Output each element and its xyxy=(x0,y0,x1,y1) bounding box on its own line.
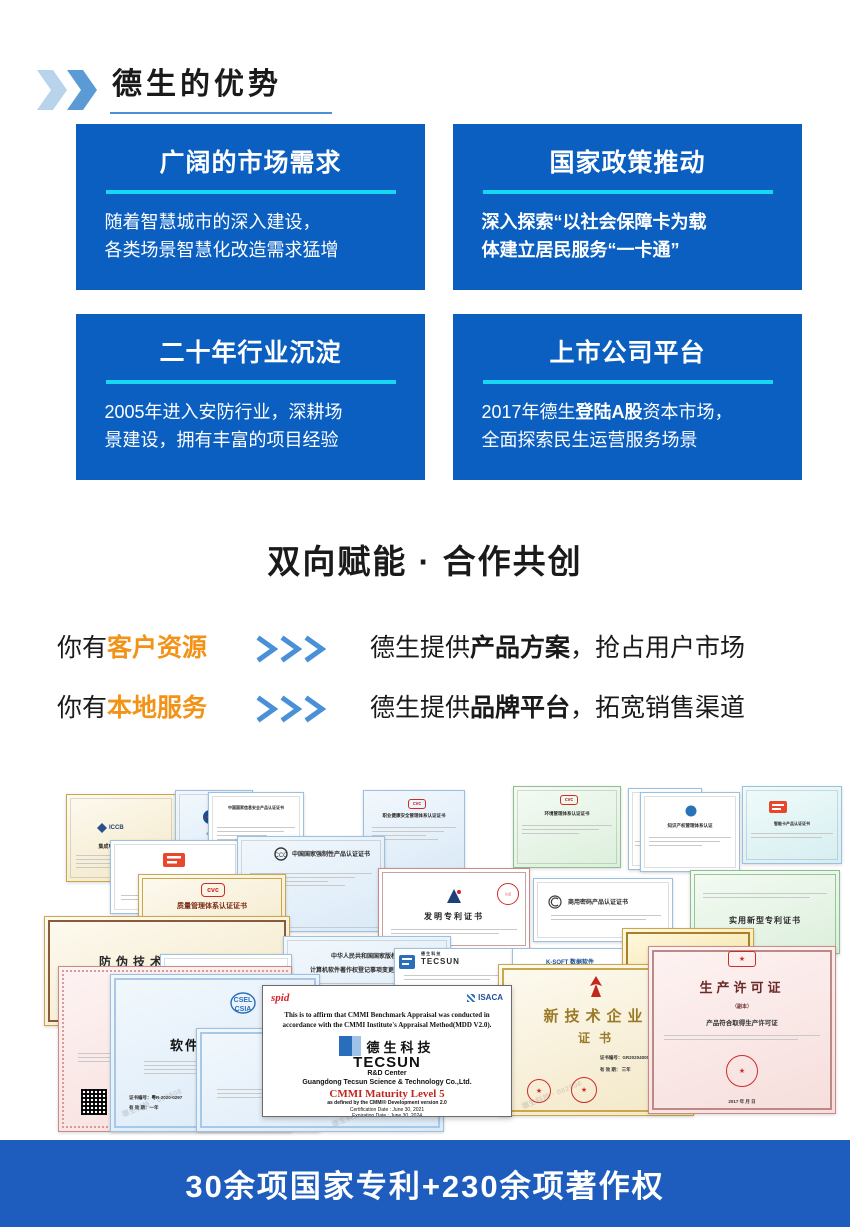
certificate-label: 中国国家信息安全产品认证证书 xyxy=(209,805,303,811)
isaca-label: ISACA xyxy=(478,993,503,1002)
empower-right-prefix: 德生提供 xyxy=(370,634,470,662)
advantage-card: 国家政策推动 深入探索“以社会保障卡为载 体建立居民服务“一卡通” xyxy=(453,124,802,290)
certificate-thumb: cvc 环境管理体系认证证书 xyxy=(513,786,621,868)
certificate-label: 商用密码产品认证证书 xyxy=(568,897,672,906)
empower-right-emphasis: 产品方案 xyxy=(470,634,570,662)
certificate-label: 实用新型专利证书 xyxy=(691,915,839,926)
card-body-text: 资本市场， xyxy=(643,402,733,422)
card-body-line: 2017年德生登陆A股资本市场， xyxy=(482,398,774,426)
certificate-label: 职业健康安全管理体系认证证书 xyxy=(364,813,464,819)
page-title: 德生的优势 xyxy=(112,66,282,104)
certificate-thumb: 知识产权管理体系认证 xyxy=(640,792,740,872)
certificate-label: 知识产权管理体系认证 xyxy=(641,823,739,829)
card-body: 2005年进入安防行业，深耕场 景建设，拥有丰富的项目经验 xyxy=(105,398,397,454)
cmmi-affirm-text: This is to affirm that CMMI Benchmark Ap… xyxy=(273,1010,501,1030)
empower-row: 你有本地服务 德生提供品牌平台，拓宽销售渠道 xyxy=(0,688,850,748)
card-body-text: 2017年德生 xyxy=(482,402,576,422)
advantage-card-grid: 广阔的市场需求 随着智慧城市的深入建设， 各类场景智慧化改造需求猛增 国家政策推… xyxy=(76,124,774,489)
advantage-card: 广阔的市场需求 随着智慧城市的深入建设， 各类场景智慧化改造需求猛增 xyxy=(76,124,425,290)
banner-text: 30余项国家专利+230余项著作权 xyxy=(185,1161,664,1206)
certificate-thumb: ★ 生产许可证 （副本） 产品符合取得生产许可证 ★ 2017 年 月 日 xyxy=(648,946,836,1114)
svg-text:CSEL: CSEL xyxy=(234,997,253,1004)
empower-right-text: 德生提供产品方案，抢占用户市场 xyxy=(370,628,745,668)
cmmi-certificate: spid ISACA This is to affirm that CMMI B… xyxy=(262,985,512,1117)
isaca-mark-icon xyxy=(467,994,475,1002)
card-body-line: 景建设，拥有丰富的项目经验 xyxy=(105,426,397,454)
empower-left-text: 你有本地服务 xyxy=(57,688,207,728)
card-title: 上市公司平台 xyxy=(549,337,705,369)
card-body: 2017年德生登陆A股资本市场， 全面探索民生运营服务场景 xyxy=(482,398,774,454)
card-body-line: 2005年进入安防行业，深耕场 xyxy=(105,398,397,426)
cmmi-rd-center: R&D Center xyxy=(263,1070,511,1077)
card-body-line: 各类场景智慧化改造需求猛增 xyxy=(105,236,397,264)
tecsun-brand-cn: 德生科技 xyxy=(366,1037,434,1056)
svg-text:CCC: CCC xyxy=(275,853,289,859)
empower-row: 你有客户资源 德生提供产品方案，抢占用户市场 xyxy=(0,628,850,688)
card-body: 深入探索“以社会保障卡为载 体建立居民服务“一卡通” xyxy=(482,208,774,264)
empower-left-prefix: 你有 xyxy=(57,694,107,722)
empower-right-text: 德生提供品牌平台，拓宽销售渠道 xyxy=(370,688,745,728)
cmmi-dates: Certification Date : June 30, 2021 Expir… xyxy=(263,1107,511,1117)
bottom-banner: 30余项国家专利+230余项著作权 xyxy=(0,1140,850,1227)
section-header: 德生的优势 xyxy=(0,28,850,98)
empower-right-suffix: ，抢占用户市场 xyxy=(570,634,745,662)
card-body-emphasis: 登陆A股 xyxy=(576,402,643,422)
empower-right-emphasis: 品牌平台 xyxy=(470,694,570,722)
certificate-thumb: 智能卡产品认证证书 xyxy=(742,786,842,864)
empower-title: 双向赋能 · 合作共创 xyxy=(0,540,850,584)
empower-rows: 你有客户资源 德生提供产品方案，抢占用户市场 你有本地服务 德生提供品牌平台，拓… xyxy=(0,628,850,748)
certificate-label: 质量管理体系认证证书 xyxy=(139,901,285,911)
isaca-logo: ISACA xyxy=(467,993,503,1002)
header-underline xyxy=(110,112,332,114)
advantage-card: 二十年行业沉淀 2005年进入安防行业，深耕场 景建设，拥有丰富的项目经验 xyxy=(76,314,425,480)
empower-left-prefix: 你有 xyxy=(57,634,107,662)
empower-right-prefix: 德生提供 xyxy=(370,694,470,722)
cmmi-level: CMMI Maturity Level 5 xyxy=(263,1088,511,1100)
card-body: 随着智慧城市的深入建设， 各类场景智慧化改造需求猛增 xyxy=(105,208,397,264)
card-divider xyxy=(106,380,396,384)
card-title: 二十年行业沉淀 xyxy=(159,337,341,369)
empower-left-highlight: 客户资源 xyxy=(107,634,207,662)
empower-left-highlight: 本地服务 xyxy=(107,694,207,722)
certificate-label: 中国国家强制性产品认证证书 xyxy=(292,849,384,858)
card-title: 广阔的市场需求 xyxy=(159,147,341,179)
triple-chevron-right-icon xyxy=(256,694,340,724)
card-body-line: 深入探索“以社会保障卡为载 xyxy=(482,208,774,236)
cmmi-defined-by: as defined by the CMMI® Development vers… xyxy=(263,1100,511,1106)
svg-text:CSIA: CSIA xyxy=(235,1006,252,1013)
advantage-card: 上市公司平台 2017年德生登陆A股资本市场， 全面探索民生运营服务场景 xyxy=(453,314,802,480)
double-chevron-right-icon xyxy=(37,70,103,110)
card-divider xyxy=(483,190,773,194)
cmmi-exp-date: Expiration Date : June 30, 2024 xyxy=(263,1113,511,1117)
card-divider xyxy=(483,380,773,384)
card-body-line: 全面探索民生运营服务场景 xyxy=(482,426,774,454)
empower-left-text: 你有客户资源 xyxy=(57,628,207,668)
card-body-line: 体建立居民服务“一卡通” xyxy=(482,236,774,264)
tecsun-logo-icon xyxy=(339,1036,361,1056)
cmmi-affirm-line: accordance with the CMMI Institute's App… xyxy=(273,1020,501,1030)
tecsun-brand-en: TECSUN xyxy=(263,1054,511,1071)
cmmi-company: Guangdong Tecsun Science & Technology Co… xyxy=(263,1079,511,1086)
tecsun-brand: 德生科技 xyxy=(263,1036,511,1056)
triple-chevron-right-icon xyxy=(256,634,340,664)
spid-logo: spid xyxy=(271,992,289,1004)
empower-right-suffix: ，拓宽销售渠道 xyxy=(570,694,745,722)
card-title: 国家政策推动 xyxy=(549,147,705,179)
cmmi-affirm-line: This is to affirm that CMMI Benchmark Ap… xyxy=(273,1010,501,1020)
certificate-label: 发明专利证书 xyxy=(379,911,529,922)
card-divider xyxy=(106,190,396,194)
card-body-line: 随着智慧城市的深入建设， xyxy=(105,208,397,236)
certificate-label: 环境管理体系认证证书 xyxy=(514,811,620,817)
